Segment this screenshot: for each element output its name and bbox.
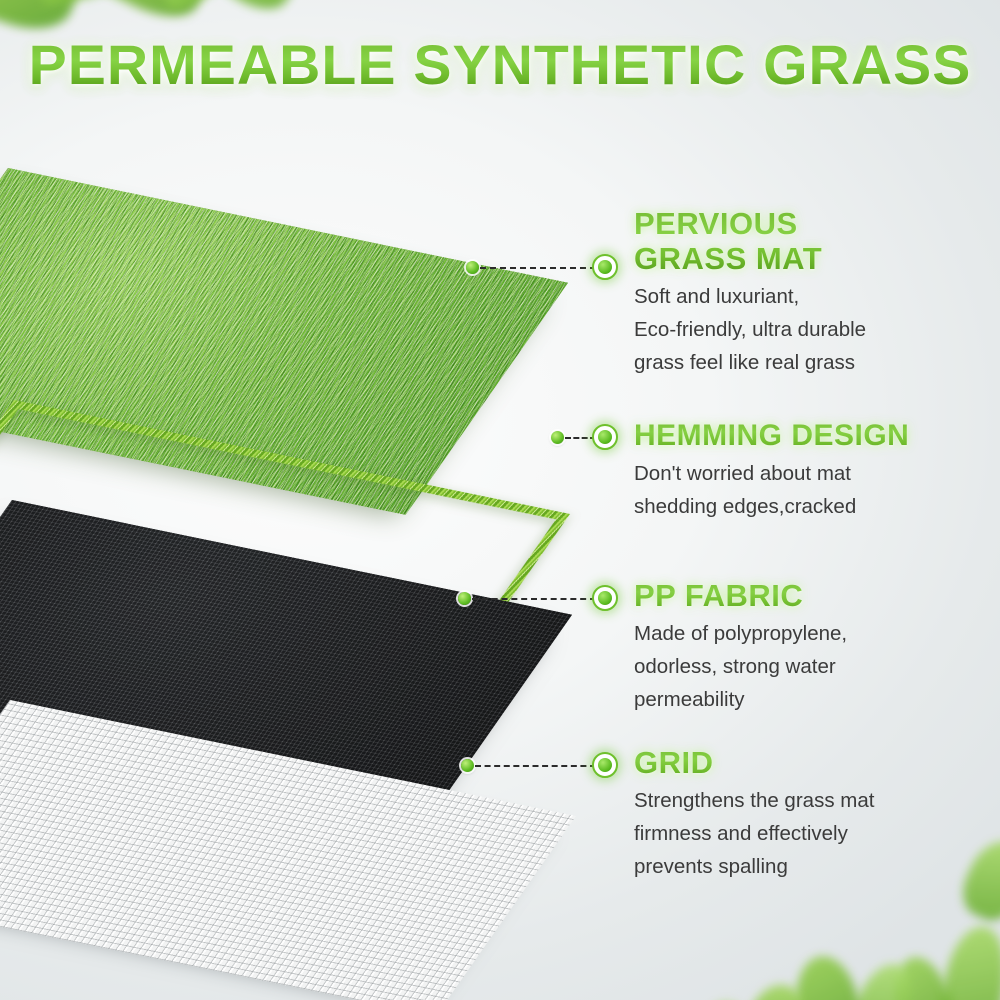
- feature-block-hemming-design: HEMMING DESIGN Don't worried about mat s…: [634, 418, 1000, 523]
- feature-description: Soft and luxuriant, Eco-friendly, ultra …: [634, 280, 1000, 379]
- feature-description: Made of polypropylene, odorless, strong …: [634, 617, 1000, 716]
- feature-block-grid: GRID Strengthens the grass mat firmness …: [634, 745, 1000, 883]
- connector-hemming: [551, 431, 618, 433]
- dashed-line: [475, 765, 596, 767]
- callout-marker-icon: [592, 585, 618, 611]
- feature-description: Strengthens the grass mat firmness and e…: [634, 784, 1000, 883]
- source-dot-icon: [466, 261, 479, 274]
- feature-heading: HEMMING DESIGN: [634, 418, 1000, 453]
- dashed-line: [472, 598, 596, 600]
- feature-heading: GRID: [634, 745, 1000, 780]
- feature-block-pervious-grass-mat: PERVIOUS GRASS MAT Soft and luxuriant, E…: [634, 206, 1000, 379]
- callout-marker-icon: [592, 424, 618, 450]
- connector-grass-mat: [466, 261, 618, 263]
- feature-heading: PP FABRIC: [634, 578, 1000, 613]
- callout-marker-icon: [592, 752, 618, 778]
- product-infographic: PERMEABLE SYNTHETIC GRASS PERVIOUS GRASS…: [0, 0, 1000, 1000]
- source-dot-icon: [458, 592, 471, 605]
- source-dot-icon: [551, 431, 564, 444]
- connector-grid: [461, 759, 618, 761]
- feature-heading: PERVIOUS GRASS MAT: [634, 206, 1000, 276]
- feature-description: Don't worried about mat shedding edges,c…: [634, 457, 1000, 523]
- source-dot-icon: [461, 759, 474, 772]
- dashed-line: [480, 267, 596, 269]
- feature-block-pp-fabric: PP FABRIC Made of polypropylene, odorles…: [634, 578, 1000, 716]
- connector-pp-fabric: [458, 592, 618, 594]
- callout-marker-icon: [592, 254, 618, 280]
